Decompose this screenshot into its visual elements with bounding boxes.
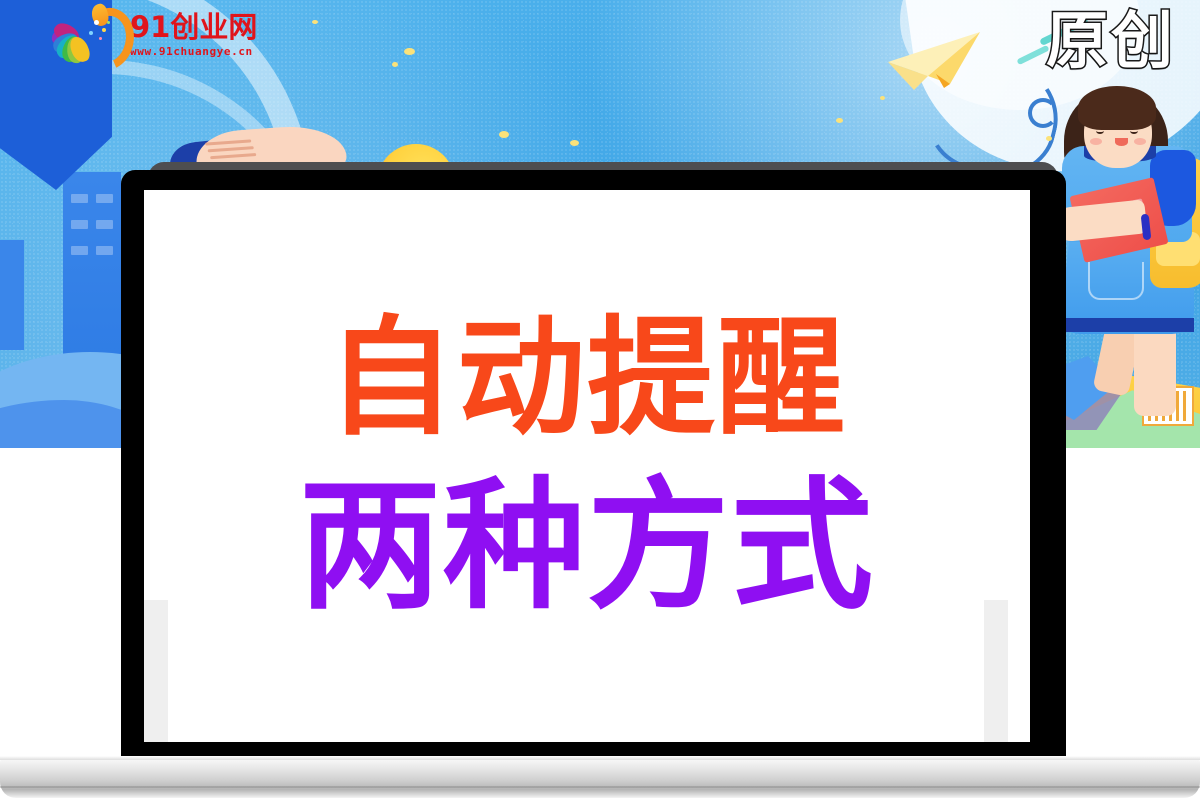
yellow-dot (499, 131, 509, 138)
girl-mouth (1115, 138, 1128, 146)
yellow-dot (570, 140, 579, 146)
girl-blush-left (1090, 138, 1102, 145)
screen-edge-strip-right (984, 600, 1008, 742)
logo-text-block: 91创业网 www.91chuangye.cn (130, 12, 257, 58)
girl-skirt-band (1060, 318, 1194, 332)
plane-trail-loop-icon (1028, 98, 1058, 128)
original-badge: 原创 (1046, 10, 1176, 72)
yellow-dot (392, 62, 398, 67)
laptop-screen[interactable] (144, 190, 1030, 742)
logo-url: www.91chuangye.cn (130, 45, 257, 58)
logo-title: 91创业网 (130, 12, 257, 42)
yellow-dot (836, 118, 843, 123)
yellow-dot (404, 48, 415, 55)
yellow-dot (1046, 136, 1052, 141)
flower-logo-icon (58, 4, 124, 66)
yellow-dot (880, 96, 885, 100)
laptop-base (0, 756, 1200, 798)
screen-edge-strip-left (144, 600, 168, 742)
girl-blush-right (1134, 138, 1146, 145)
yellow-dot (312, 20, 318, 24)
laptop-base-seam (0, 786, 1200, 788)
paper-plane-icon (884, 26, 994, 106)
site-logo[interactable]: 91创业网 www.91chuangye.cn (58, 4, 257, 66)
screenshot-canvas: 91创业网 www.91chuangye.cn 原创 自动提醒 两种方式 (0, 0, 1200, 800)
girl-hair-top (1078, 86, 1156, 130)
girl-eye-right (1130, 128, 1138, 134)
city-building-mid-icon (0, 240, 24, 350)
girl-eye-left (1096, 128, 1104, 134)
girl-dress-pocket (1088, 262, 1144, 300)
